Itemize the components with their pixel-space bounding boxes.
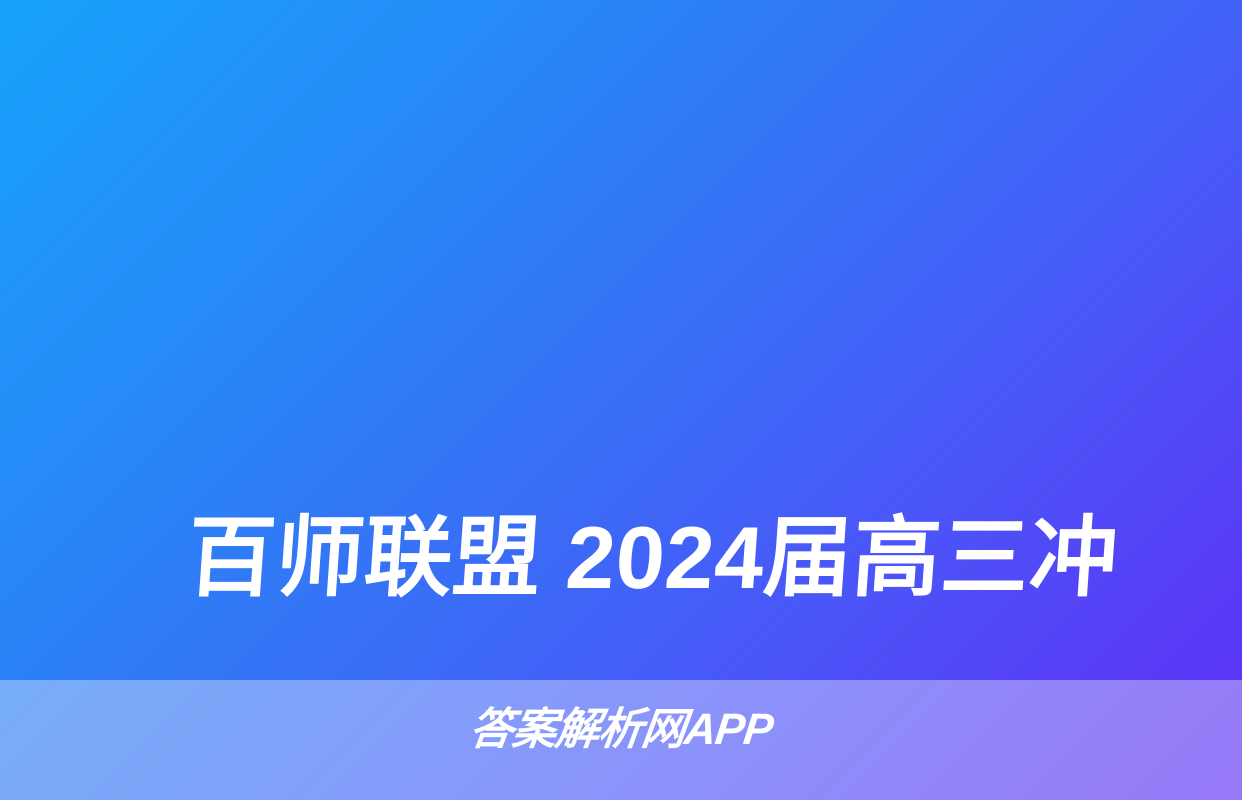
watermark-latin-text: APP — [682, 705, 776, 754]
title-line-1: 百师联盟 2024届高三冲 — [99, 482, 1208, 634]
watermark-brand: 答案解析网APP — [0, 702, 1242, 758]
exam-paper-share-card: 百师联盟 2024届高三冲 刺卷(五)5 浙江卷历史试 题 答案解析网APP — [0, 0, 1242, 800]
watermark-chinese-text: 答案解析网 — [467, 705, 688, 754]
